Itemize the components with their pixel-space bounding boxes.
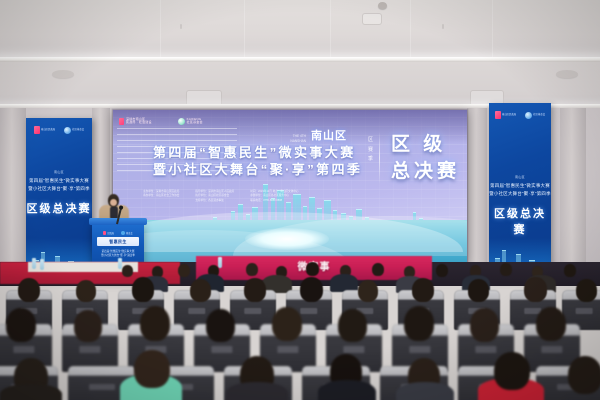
audience-head [190,279,211,302]
foundation-mark-icon [64,127,71,134]
audience-head [372,263,384,276]
org-mark-icon [103,231,106,235]
foundation-mark-icon [178,118,185,125]
banner-left-region: 南山区 [26,170,92,174]
audience-head [436,264,448,277]
audience-head [300,277,323,302]
foundation-mark-icon [121,231,125,235]
podium-logos: 民政局 基金会 [92,231,144,235]
banner-right-headline: 区级总决赛 [489,205,551,237]
seat-number-tag [343,346,364,353]
banner-right-logo1-text: 南山区民政局 [502,114,516,117]
audience-head [524,277,547,302]
presenter-face [110,199,117,206]
banner-right-logo2-text: 社区基金会 [533,114,545,117]
conference-hall-photo: 深圳市南山区 民政局 · 社会建设 KAIFENG 社区基金会 THE 4TH … [0,0,600,400]
led-title-line1: 第四届“智惠民生”微实事大赛 [153,144,347,161]
podium-plate-text: 智惠民生 [97,237,139,246]
ceiling [0,0,600,62]
audience-head [246,263,258,276]
audience-head [576,279,597,302]
banner-right-line1: 第四届“智惠民生”微实事大赛 [489,183,551,189]
seat-number-tag [79,346,100,353]
banner-right-logo2: 社区基金会 [525,112,545,119]
led-eyebrow-english: THE 4TH NANSHAN [290,134,306,143]
audience-head [568,356,600,394]
led-logo-center: KAIFENG 社区基金会 [178,118,203,125]
audience-head [470,308,499,342]
led-title-divider [379,132,380,184]
wall-speaker-icon [52,70,74,78]
seat-number-tag [211,346,232,353]
roll-up-banner-left: 南山区民政局 社区基金会 南山区 第四届“智惠民生”微实事大赛 暨小社区大舞台“… [26,118,92,280]
seat-number-tag [300,308,317,314]
led-fineprint-right: 时间：2023年12月 地点：南山区文体中心 参赛单位：南山区各社区服务中心 联… [250,190,298,203]
audience-shoulders [396,382,454,400]
foundation-mark-icon [525,112,532,119]
org-mark-icon [34,126,40,134]
banner-right-logos: 南山区民政局 社区基金会 [489,111,551,119]
podium-name-plate: 智惠民生 [97,237,139,246]
podium-logo2-text: 基金会 [126,231,133,235]
audience-head [6,308,36,342]
org-mark-icon [495,111,501,119]
wall-column-inner-right [467,108,487,280]
banner-left-logo2-text: 社区基金会 [72,129,84,132]
audience-head [338,309,367,342]
seat-number-tag [475,346,496,353]
audience-head [140,306,170,341]
audience-head [132,277,154,302]
audience-head [76,280,96,302]
led-light-reflection [245,228,329,250]
led-headline-line1: 区 级 [391,132,460,159]
seat-number-tag [188,308,205,314]
wall-column-right [560,108,586,280]
audience-head [74,310,102,342]
audience-head [306,262,319,276]
banner-left-logos: 南山区民政局 社区基金会 [26,126,92,134]
org-mark-icon [119,118,124,125]
audience-head [494,352,530,390]
led-vertical-label: 区赛季 [367,136,375,165]
audience-head [468,279,489,302]
banner-left-headline: 区级总决赛 [26,200,92,216]
audience-head [500,263,512,276]
audience-section [0,262,600,400]
audience-head [564,264,576,277]
podium-logo1: 民政局 [103,231,114,235]
audience-head [358,280,378,302]
audience-shoulders [226,382,288,400]
audience-head [412,278,434,302]
podium-logo2: 基金会 [121,231,133,235]
audience-head [178,264,190,277]
seat-number-tag [576,308,593,314]
led-title-line2: 暨小社区大舞台“聚·享”第四季 [153,161,347,178]
ceiling-speaker-icon [378,2,387,9]
ceiling-sensor-icon [442,24,444,29]
audience-head [536,307,566,341]
banner-left-logo2: 社区基金会 [64,127,84,134]
led-headline-line2: 总决赛 [391,159,460,186]
banner-left-logo1-text: 南山区民政局 [41,129,55,132]
seat-number-tag [541,346,562,353]
audience-head [404,306,434,341]
banner-left-logo1: 南山区民政局 [34,126,55,134]
led-title-block: THE 4TH NANSHAN 南山区 第四届“智惠民生”微实事大赛 暨小社区大… [153,130,465,178]
seat-number-tag [277,346,298,353]
banner-left-line2: 暨小社区大舞台“聚·享”第四季 [26,186,92,192]
led-fineprint-block: 主办单位：深圳市南山区民政局 承办单位：南山区社会工作协会 指导单位：深圳市南山… [143,190,443,203]
audience-head [206,309,235,342]
roll-up-banner-right: 南山区民政局 社区基金会 南山区 第四届“智惠民生”微实事大赛 暨小社区大舞台“… [489,103,551,280]
wall-speaker-icon [556,70,578,78]
ceiling-sensor-icon [180,24,182,29]
led-display-screen: 深圳市南山区 民政局 · 社会建设 KAIFENG 社区基金会 THE 4TH … [113,110,467,262]
seat-number-tag [244,308,261,314]
banner-left-line1: 第四届“智惠民生”微实事大赛 [26,178,92,184]
ceiling-vent [362,13,382,25]
banner-right-region: 南山区 [489,175,551,179]
led-logo-left-line2: 民政局 · 社会建设 [126,121,152,124]
audience-head [18,278,40,302]
seat-number-tag [89,384,115,390]
led-organizer-logos: 深圳市南山区 民政局 · 社会建设 KAIFENG 社区基金会 [119,113,309,129]
audience-head [122,265,133,277]
audience-shoulders [0,384,62,400]
audience-head [134,350,170,388]
led-logo-left: 深圳市南山区 民政局 · 社会建设 [119,118,152,125]
led-fineprint-mid: 指导单位：深圳市南山区人民政府 执行单位：南山区社区基金会 支持单位：各街道办事… [195,190,234,203]
seat-number-tag [409,346,430,353]
banner-right-line2: 暨小社区大舞台“聚·享”第四季 [489,191,551,197]
led-headline-block: 区 级 总决赛 [391,132,460,186]
wall-column-left [0,108,26,280]
led-logo-center-line2: 社区基金会 [187,121,203,124]
led-fineprint-left: 主办单位：深圳市南山区民政局 承办单位：南山区社会工作协会 [143,190,179,203]
podium-logo1-text: 民政局 [107,231,114,235]
seat-number-tag [13,346,34,353]
audience-head [272,307,302,341]
led-region-label: 南山区 [311,127,347,143]
audience-shoulders [318,380,376,400]
banner-right-logo1: 南山区民政局 [495,111,516,119]
upper-wall [0,62,600,108]
audience-head [244,278,266,302]
